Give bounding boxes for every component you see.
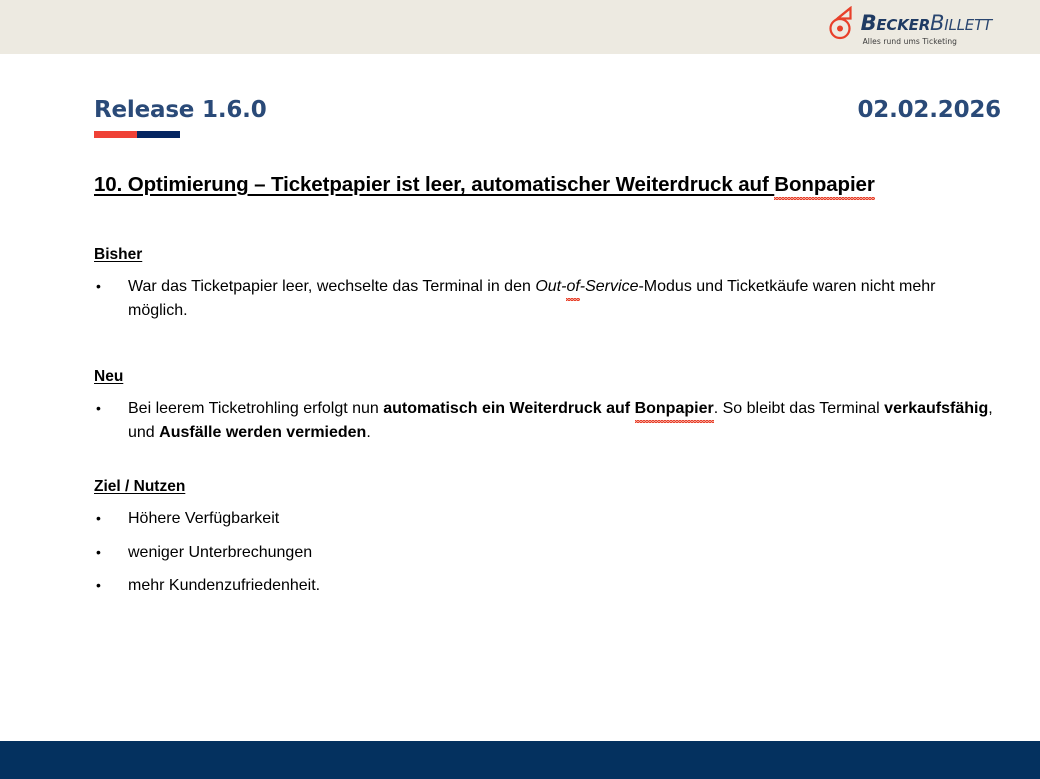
list-item: mehr Kundenzufriedenheit.	[94, 574, 994, 598]
bullet-text-segment-bold: verkaufsfähig	[884, 400, 988, 417]
becker-billett-six-logo-icon	[828, 6, 858, 40]
bullet-text-segment: .	[366, 424, 370, 441]
bullet-text-segment: mehr Kundenzufriedenheit.	[128, 577, 320, 594]
list-item: Höhere Verfügbarkeit	[94, 507, 994, 531]
accent-bar-segment-navy	[137, 131, 180, 138]
bullet-list-bisher: War das Ticketpapier leer, wechselte das…	[94, 275, 994, 322]
list-item: War das Ticketpapier leer, wechselte das…	[94, 275, 994, 322]
bullet-text-segment: War das Ticketpapier leer, wechselte das…	[128, 278, 535, 295]
brand-word-primary: Becker	[861, 11, 930, 35]
bullet-text-segment: Höhere Verfügbarkeit	[128, 510, 279, 527]
bullet-list-neu: Bei leerem Ticketrohling erfolgt nun aut…	[94, 397, 994, 444]
bullet-text-segment-bold: automatisch ein Weiterdruck auf	[383, 400, 634, 417]
release-title: Release 1.6.0	[94, 97, 267, 123]
brand-word-secondary: Billett	[930, 11, 992, 35]
accent-bar-segment-red	[94, 131, 137, 138]
header-band: BeckerBillett Alles rund ums Ticketing	[0, 0, 1040, 54]
bullet-text-segment-bold: Ausfälle werden vermieden	[159, 424, 366, 441]
slide-content: 10. Optimierung – Ticketpapier ist leer,…	[94, 172, 994, 608]
page-title: 10. Optimierung – Ticketpapier ist leer,…	[94, 172, 994, 198]
release-date: 02.02.2026	[857, 97, 1001, 123]
list-item: Bei leerem Ticketrohling erfolgt nun aut…	[94, 397, 994, 444]
brand-logo: BeckerBillett Alles rund ums Ticketing	[828, 5, 992, 51]
bullet-text-segment: weniger Unterbrechungen	[128, 544, 312, 561]
page-title-misspelled-word: Bonpapier	[774, 172, 874, 198]
bullet-text-segment: Out-	[535, 278, 566, 295]
accent-bar	[94, 131, 180, 138]
bullet-misspelled-word: of	[566, 275, 579, 299]
bullet-text-segment: Bei leerem Ticketrohling erfolgt nun	[128, 400, 383, 417]
brand-wordmark: BeckerBillett	[861, 13, 992, 33]
brand-tagline: Alles rund ums Ticketing	[863, 37, 992, 46]
footer-band	[0, 741, 1040, 779]
bullet-text-segment: -Service	[580, 278, 639, 295]
section-heading-bisher: Bisher	[94, 245, 994, 265]
bullet-text-segment: . So bleibt das Terminal	[714, 400, 884, 417]
bullet-list-ziel-nutzen: Höhere Verfügbarkeit weniger Unterbrechu…	[94, 507, 994, 598]
section-heading-ziel-nutzen: Ziel / Nutzen	[94, 477, 994, 497]
section-heading-neu: Neu	[94, 367, 994, 387]
list-item: weniger Unterbrechungen	[94, 541, 994, 565]
bullet-misspelled-word: Bonpapier	[635, 397, 714, 421]
page-title-text: 10. Optimierung – Ticketpapier ist leer,…	[94, 173, 774, 196]
